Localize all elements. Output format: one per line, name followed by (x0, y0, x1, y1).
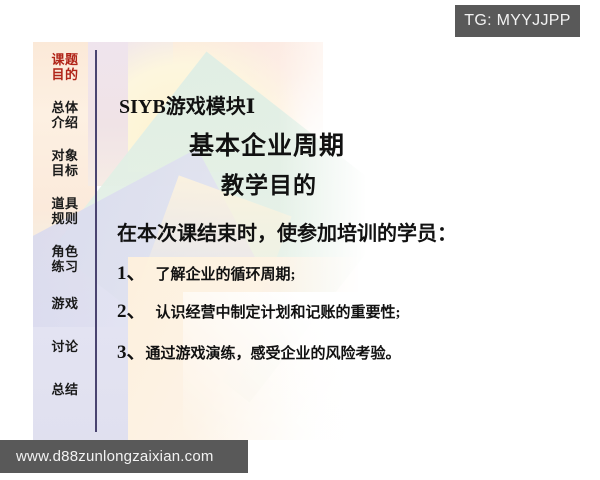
nav-item-line1: 角色 (37, 244, 93, 259)
site-watermark: www.d88zunlongzaixian.com (0, 440, 248, 473)
nav-item-audience-goal[interactable]: 对象 目标 (37, 148, 93, 178)
bullet-text: 认识经营中制定计划和记账的重要性; (156, 305, 401, 321)
chapter-nav: 课题 目的 总体 介绍 对象 目标 道具 规则 角色 练习 游戏 (37, 48, 93, 434)
nav-item-line2: 目标 (37, 163, 93, 178)
bullet-text: 了解企业的循环周期; (156, 267, 296, 283)
nav-item-props-rules[interactable]: 道具 规则 (37, 196, 93, 226)
nav-item-line2: 规则 (37, 211, 93, 226)
presentation-slide: 课题 目的 总体 介绍 对象 目标 道具 规则 角色 练习 游戏 (33, 42, 511, 440)
nav-item-line2: 目的 (37, 67, 93, 82)
nav-item-line1: 道具 (37, 196, 93, 211)
slide-title-main: 基本企业周期 (189, 126, 345, 162)
bullet-item-2: 2、认识经营中制定计划和记账的重要性; (117, 296, 401, 323)
nav-item-overview[interactable]: 总体 介绍 (37, 100, 93, 130)
nav-divider-line (95, 50, 97, 432)
telegram-handle-badge: TG: MYYJJPP (455, 5, 580, 37)
nav-item-topic-purpose[interactable]: 课题 目的 (37, 52, 93, 82)
nav-item-line1: 游戏 (37, 296, 93, 311)
nav-item-line1: 对象 (37, 148, 93, 163)
bullet-number: 3、 (117, 342, 146, 363)
bullet-text: 通过游戏演练，感受企业的风险考验。 (146, 346, 401, 362)
nav-item-summary[interactable]: 总结 (37, 382, 93, 397)
bullet-number: 2、 (117, 301, 146, 322)
nav-item-discussion[interactable]: 讨论 (37, 339, 93, 354)
nav-item-line1: 总体 (37, 100, 93, 115)
nav-item-role-practice[interactable]: 角色 练习 (37, 244, 93, 274)
bullet-item-1: 1、了解企业的循环周期; (117, 258, 296, 285)
nav-item-line1: 课题 (37, 52, 93, 67)
slide-subtitle: 教学目的 (221, 166, 317, 200)
bullet-number: 1、 (117, 263, 146, 284)
bullet-item-3: 3、通过游戏演练，感受企业的风险考验。 (117, 337, 401, 364)
slide-lead-text: 在本次课结束时，使参加培训的学员： (117, 217, 457, 246)
slide-screenshot: 课题 目的 总体 介绍 对象 目标 道具 规则 角色 练习 游戏 (0, 0, 600, 480)
nav-item-line2: 介绍 (37, 115, 93, 130)
slide-title-module: SIYB游戏模块Ⅰ (119, 90, 255, 119)
slide-content: SIYB游戏模块Ⅰ 基本企业周期 教学目的 在本次课结束时，使参加培训的学员： … (111, 42, 511, 440)
nav-item-line1: 讨论 (37, 339, 93, 354)
nav-item-line1: 总结 (37, 382, 93, 397)
nav-item-game[interactable]: 游戏 (37, 296, 93, 311)
nav-item-line2: 练习 (37, 259, 93, 274)
